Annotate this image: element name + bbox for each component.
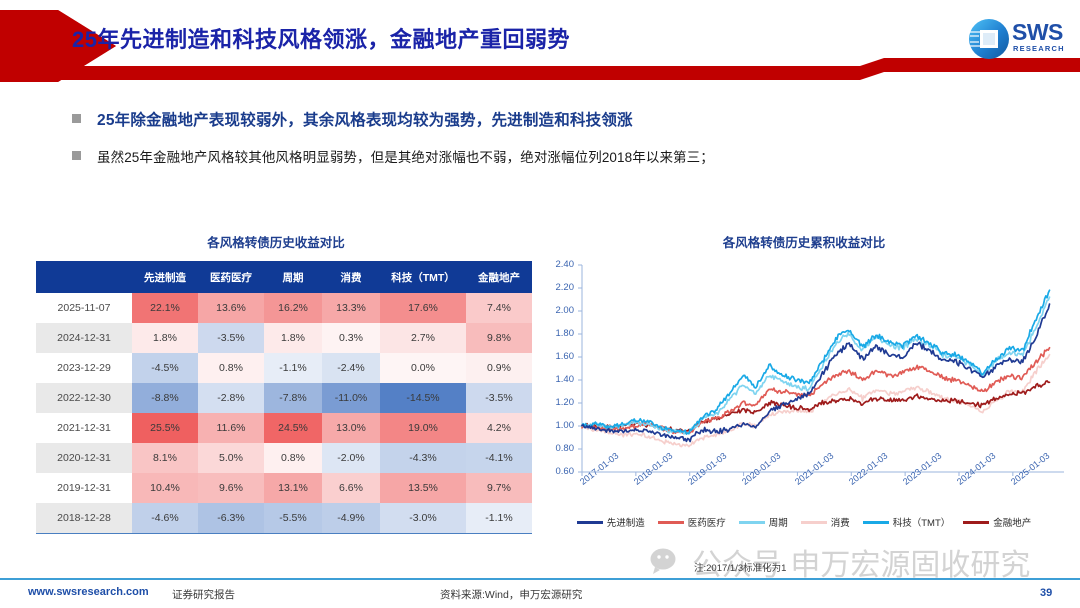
legend-item[interactable]: 科技（TMT） [863,515,951,529]
table-cell-value: 8.1% [132,443,198,473]
cumulative-return-chart-panel: 各风格转债历史累积收益对比 0.600.801.001.201.401.601.… [536,232,1072,542]
y-axis-tick-label: 1.80 [540,328,574,339]
sws-logo: SWS RESEARCH [968,16,1068,64]
bullet-text: 25年除金融地产表现较弱外，其余风格表现均较为强势，先进制造和科技领涨 [97,108,633,130]
table-cell-value: -4.5% [132,353,198,383]
table-cell-value: -3.5% [466,383,532,413]
bullet-list: 25年除金融地产表现较弱外，其余风格表现均较为强势，先进制造和科技领涨 虽然25… [0,108,1080,182]
table-cell-date: 2023-12-29 [36,353,132,383]
table-cell-value: 0.3% [322,323,380,353]
table-cell-value: 9.6% [198,473,264,503]
bullet-square-icon [72,114,81,123]
legend-label: 周期 [769,515,788,529]
bullet-square-icon [72,151,81,160]
yield-table: 先进制造医药医疗周期消费科技（TMT）金融地产 2025-11-0722.1%1… [36,261,532,534]
y-axis-tick-label: 2.20 [540,282,574,293]
table-cell-value: 19.0% [380,413,466,443]
legend-item[interactable]: 周期 [739,515,788,529]
page-title: 25年先进制造和科技风格领涨，金融地产重回弱势 [72,22,570,54]
table-row: 2018-12-28-4.6%-6.3%-5.5%-4.9%-3.0%-1.1% [36,503,532,533]
legend-item[interactable]: 金融地产 [963,515,1031,529]
legend-item[interactable]: 消费 [801,515,850,529]
table-cell-value: 13.3% [322,293,380,323]
table-cell-value: 10.4% [132,473,198,503]
legend-label: 消费 [831,515,850,529]
table-cell-value: -5.5% [264,503,322,533]
table-col-1: 先进制造 [132,261,198,293]
table-cell-date: 2022-12-30 [36,383,132,413]
table-cell-date: 2025-11-07 [36,293,132,323]
table-cell-value: 6.6% [322,473,380,503]
table-cell-value: 9.8% [466,323,532,353]
table-cell-date: 2019-12-31 [36,473,132,503]
table-cell-value: 5.0% [198,443,264,473]
table-cell-value: 24.5% [264,413,322,443]
y-axis-tick-label: 1.00 [540,420,574,431]
table-col-5: 科技（TMT） [380,261,466,293]
table-col-3: 周期 [264,261,322,293]
table-cell-value: -1.1% [466,503,532,533]
chart-note: 注:2017/1/3标准化为1 [694,560,786,574]
table-col-2: 医药医疗 [198,261,264,293]
y-axis-tick-label: 1.60 [540,351,574,362]
legend-item[interactable]: 先进制造 [577,515,645,529]
table-cell-value: -4.9% [322,503,380,533]
table-cell-value: 2.7% [380,323,466,353]
y-axis-tick-label: 1.40 [540,374,574,385]
bullet-item-primary: 25年除金融地产表现较弱外，其余风格表现均较为强势，先进制造和科技领涨 [0,108,1080,130]
table-col-6: 金融地产 [466,261,532,293]
table-cell-value: 4.2% [466,413,532,443]
footer-source: 资料来源:Wind，申万宏源研究 [440,587,582,602]
table-cell-value: 11.6% [198,413,264,443]
legend-color-swatch [658,521,684,524]
table-cell-value: -14.5% [380,383,466,413]
table-row: 2025-11-0722.1%13.6%16.2%13.3%17.6%7.4% [36,293,532,323]
table-cell-value: 16.2% [264,293,322,323]
y-axis-tick-label: 0.60 [540,466,574,477]
table-cell-value: 13.6% [198,293,264,323]
table-body: 2025-11-0722.1%13.6%16.2%13.3%17.6%7.4%2… [36,293,532,533]
table-cell-value: 22.1% [132,293,198,323]
y-axis-tick-label: 0.80 [540,443,574,454]
sws-logo-subtitle: RESEARCH [1013,44,1065,53]
legend-color-swatch [577,521,603,524]
chart-series-line [582,290,1050,434]
footer-report-label: 证券研究报告 [172,587,235,602]
table-cell-value: 7.4% [466,293,532,323]
chart-series-line [582,297,1050,434]
table-cell-value: -2.4% [322,353,380,383]
legend-item[interactable]: 医药医疗 [658,515,726,529]
table-cell-value: -3.5% [198,323,264,353]
table-cell-date: 2024-12-31 [36,323,132,353]
legend-color-swatch [739,521,765,524]
table-cell-value: -4.3% [380,443,466,473]
chart-title: 各风格转债历史累积收益对比 [536,232,1072,251]
table-cell-value: 1.8% [132,323,198,353]
table-cell-value: 9.7% [466,473,532,503]
bullet-item-secondary: 虽然25年金融地产风格较其他风格明显弱势，但是其绝对涨幅也不弱，绝对涨幅位列20… [0,146,1080,166]
table-cell-value: 0.9% [466,353,532,383]
chart-plot-area: 0.600.801.001.201.401.601.802.002.202.40… [536,257,1072,512]
table-col-4: 消费 [322,261,380,293]
slide-header: 25年先进制造和科技风格领涨，金融地产重回弱势 SWS RESEARCH [0,0,1080,92]
table-cell-value: -2.0% [322,443,380,473]
y-axis-tick-label: 1.20 [540,397,574,408]
legend-color-swatch [801,521,827,524]
legend-label: 医药医疗 [688,515,726,529]
bullet-text: 虽然25年金融地产风格较其他风格明显弱势，但是其绝对涨幅也不弱，绝对涨幅位列20… [97,146,714,166]
table-cell-value: 13.1% [264,473,322,503]
table-cell-date: 2020-12-31 [36,443,132,473]
sws-logo-icon [968,18,1010,60]
legend-label: 先进制造 [607,515,645,529]
table-cell-value: -6.3% [198,503,264,533]
table-row: 2019-12-3110.4%9.6%13.1%6.6%13.5%9.7% [36,473,532,503]
table-cell-value: -3.0% [380,503,466,533]
table-cell-value: 0.8% [264,443,322,473]
table-row: 2022-12-30-8.8%-2.8%-7.8%-11.0%-14.5%-3.… [36,383,532,413]
footer-website[interactable]: www.swsresearch.com [28,586,149,598]
table-cell-value: -11.0% [322,383,380,413]
table-cell-value: 17.6% [380,293,466,323]
table-cell-value: -4.1% [466,443,532,473]
table-cell-value: -8.8% [132,383,198,413]
legend-label: 科技（TMT） [893,515,951,529]
table-col-date [36,261,132,293]
table-title: 各风格转债历史收益对比 [36,232,516,251]
chart-series-line [582,348,1050,434]
table-cell-value: -7.8% [264,383,322,413]
table-row: 2020-12-318.1%5.0%0.8%-2.0%-4.3%-4.1% [36,443,532,473]
table-row: 2023-12-29-4.5%0.8%-1.1%-2.4%0.0%0.9% [36,353,532,383]
table-cell-value: -2.8% [198,383,264,413]
yield-table-panel: 各风格转债历史收益对比 先进制造医药医疗周期消费科技（TMT）金融地产 2025… [36,232,516,534]
table-cell-value: 13.5% [380,473,466,503]
legend-color-swatch [963,521,989,524]
y-axis-tick-label: 2.40 [540,259,574,270]
table-cell-value: 13.0% [322,413,380,443]
table-cell-date: 2021-12-31 [36,413,132,443]
table-cell-value: 0.0% [380,353,466,383]
footer-divider [0,578,1080,580]
table-row: 2021-12-3125.5%11.6%24.5%13.0%19.0%4.2% [36,413,532,443]
wechat-icon [650,547,684,577]
table-cell-value: 1.8% [264,323,322,353]
sws-logo-text: SWS [1012,21,1063,44]
legend-color-swatch [863,521,889,524]
table-cell-value: 0.8% [198,353,264,383]
table-row: 2024-12-311.8%-3.5%1.8%0.3%2.7%9.8% [36,323,532,353]
table-cell-value: 25.5% [132,413,198,443]
page-number: 39 [1040,587,1052,599]
table-cell-value: -4.6% [132,503,198,533]
table-cell-value: -1.1% [264,353,322,383]
legend-label: 金融地产 [993,515,1031,529]
y-axis-tick-label: 2.00 [540,305,574,316]
chart-legend: 先进制造医药医疗周期消费科技（TMT）金融地产 [536,515,1072,529]
table-header-row: 先进制造医药医疗周期消费科技（TMT）金融地产 [36,261,532,293]
table-cell-date: 2018-12-28 [36,503,132,533]
